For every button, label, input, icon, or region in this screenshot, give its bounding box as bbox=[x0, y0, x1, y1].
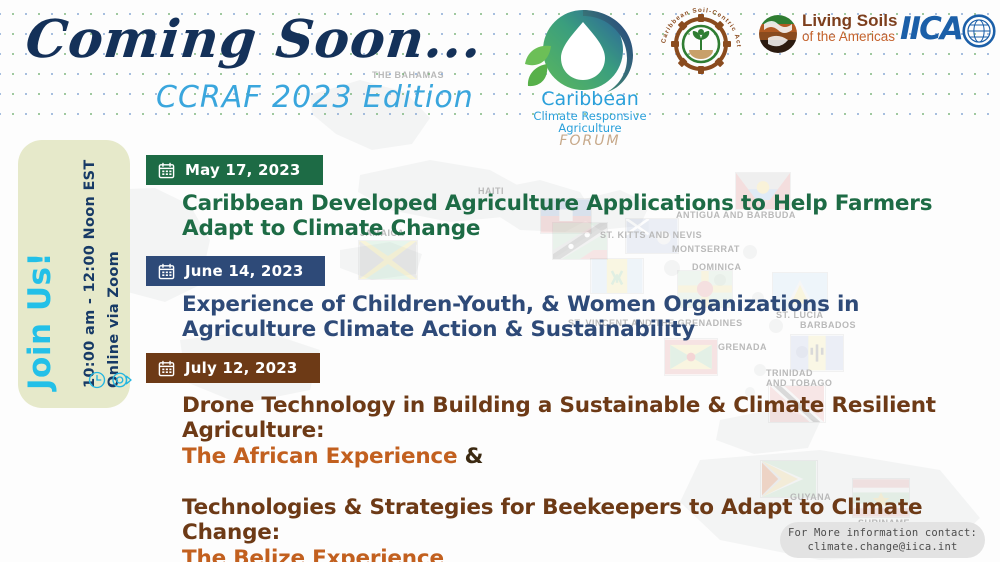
clock-icon bbox=[88, 371, 106, 389]
page-title: Coming Soon... bbox=[23, 14, 485, 66]
event-time: 10:00 am - 12:00 Noon EST bbox=[82, 159, 98, 388]
calendar-icon bbox=[158, 360, 175, 377]
contact-line-2[interactable]: climate.change@iica.int bbox=[808, 540, 958, 554]
session-2-title: Experience of Children-Youth, & Women Or… bbox=[182, 292, 986, 343]
zoom-video-icon bbox=[112, 371, 132, 389]
session-3-date-badge: July 12, 2023 bbox=[146, 353, 320, 383]
contact-info: For More information contact: climate.ch… bbox=[780, 522, 985, 558]
ccraf-logo: Caribbean Climate Responsive Agriculture… bbox=[505, 2, 670, 142]
session-1-date: May 17, 2023 bbox=[185, 161, 301, 179]
session-1-date-badge: May 17, 2023 bbox=[146, 155, 323, 185]
caribbean-soil-centric-actions-logo: Caribbean Soil-Centric Actions bbox=[655, 4, 747, 76]
flag-label-the-bahamas: THE BAHAMAS bbox=[372, 70, 444, 80]
poster-canvas: BELIZE THE BAHAMAS HAITI JAMAICA ST. KIT… bbox=[0, 0, 1000, 562]
session-1-title: Caribbean Developed Agriculture Applicat… bbox=[182, 191, 986, 242]
ccraf-logo-wordmark: Caribbean Climate Responsive Agriculture… bbox=[505, 90, 675, 149]
join-us-title: Join Us! bbox=[22, 252, 58, 390]
living-soils-wordmark: Living Soils of the Americas bbox=[802, 12, 897, 44]
session-3-date: July 12, 2023 bbox=[185, 359, 298, 377]
calendar-icon bbox=[158, 162, 175, 179]
calendar-icon bbox=[158, 263, 175, 280]
flag-label-grenada: GRENADA bbox=[718, 342, 767, 352]
session-block-2: June 14, 2023 Experience of Children-You… bbox=[146, 256, 986, 343]
session-3-title-a-sub: The African Experience bbox=[182, 444, 457, 469]
session-3-title-b-sub: The Belize Experience bbox=[182, 546, 444, 562]
session-3-title-a: Drone Technology in Building a Sustainab… bbox=[182, 393, 986, 469]
session-3-title-a-main: Drone Technology in Building a Sustainab… bbox=[182, 393, 936, 443]
session-2-date-badge: June 14, 2023 bbox=[146, 256, 325, 286]
flag-label-montserrat: MONTSERRAT bbox=[672, 244, 740, 254]
session-3-ampersand: & bbox=[465, 444, 484, 469]
contact-line-1: For More information contact: bbox=[788, 526, 977, 540]
edition-subtitle: CCRAF 2023 Edition bbox=[156, 80, 474, 115]
session-2-date: June 14, 2023 bbox=[185, 262, 303, 280]
session-block-1: May 17, 2023 Caribbean Developed Agricul… bbox=[146, 155, 986, 242]
globe-icon bbox=[962, 14, 996, 48]
iica-logo: IICA bbox=[900, 14, 1000, 56]
event-platform: Online via Zoom bbox=[106, 251, 122, 388]
join-us-panel: Join Us! 10:00 am - 12:00 Noon EST Onlin… bbox=[18, 140, 130, 408]
logo-bar: Caribbean Climate Responsive Agriculture… bbox=[500, 0, 1000, 142]
